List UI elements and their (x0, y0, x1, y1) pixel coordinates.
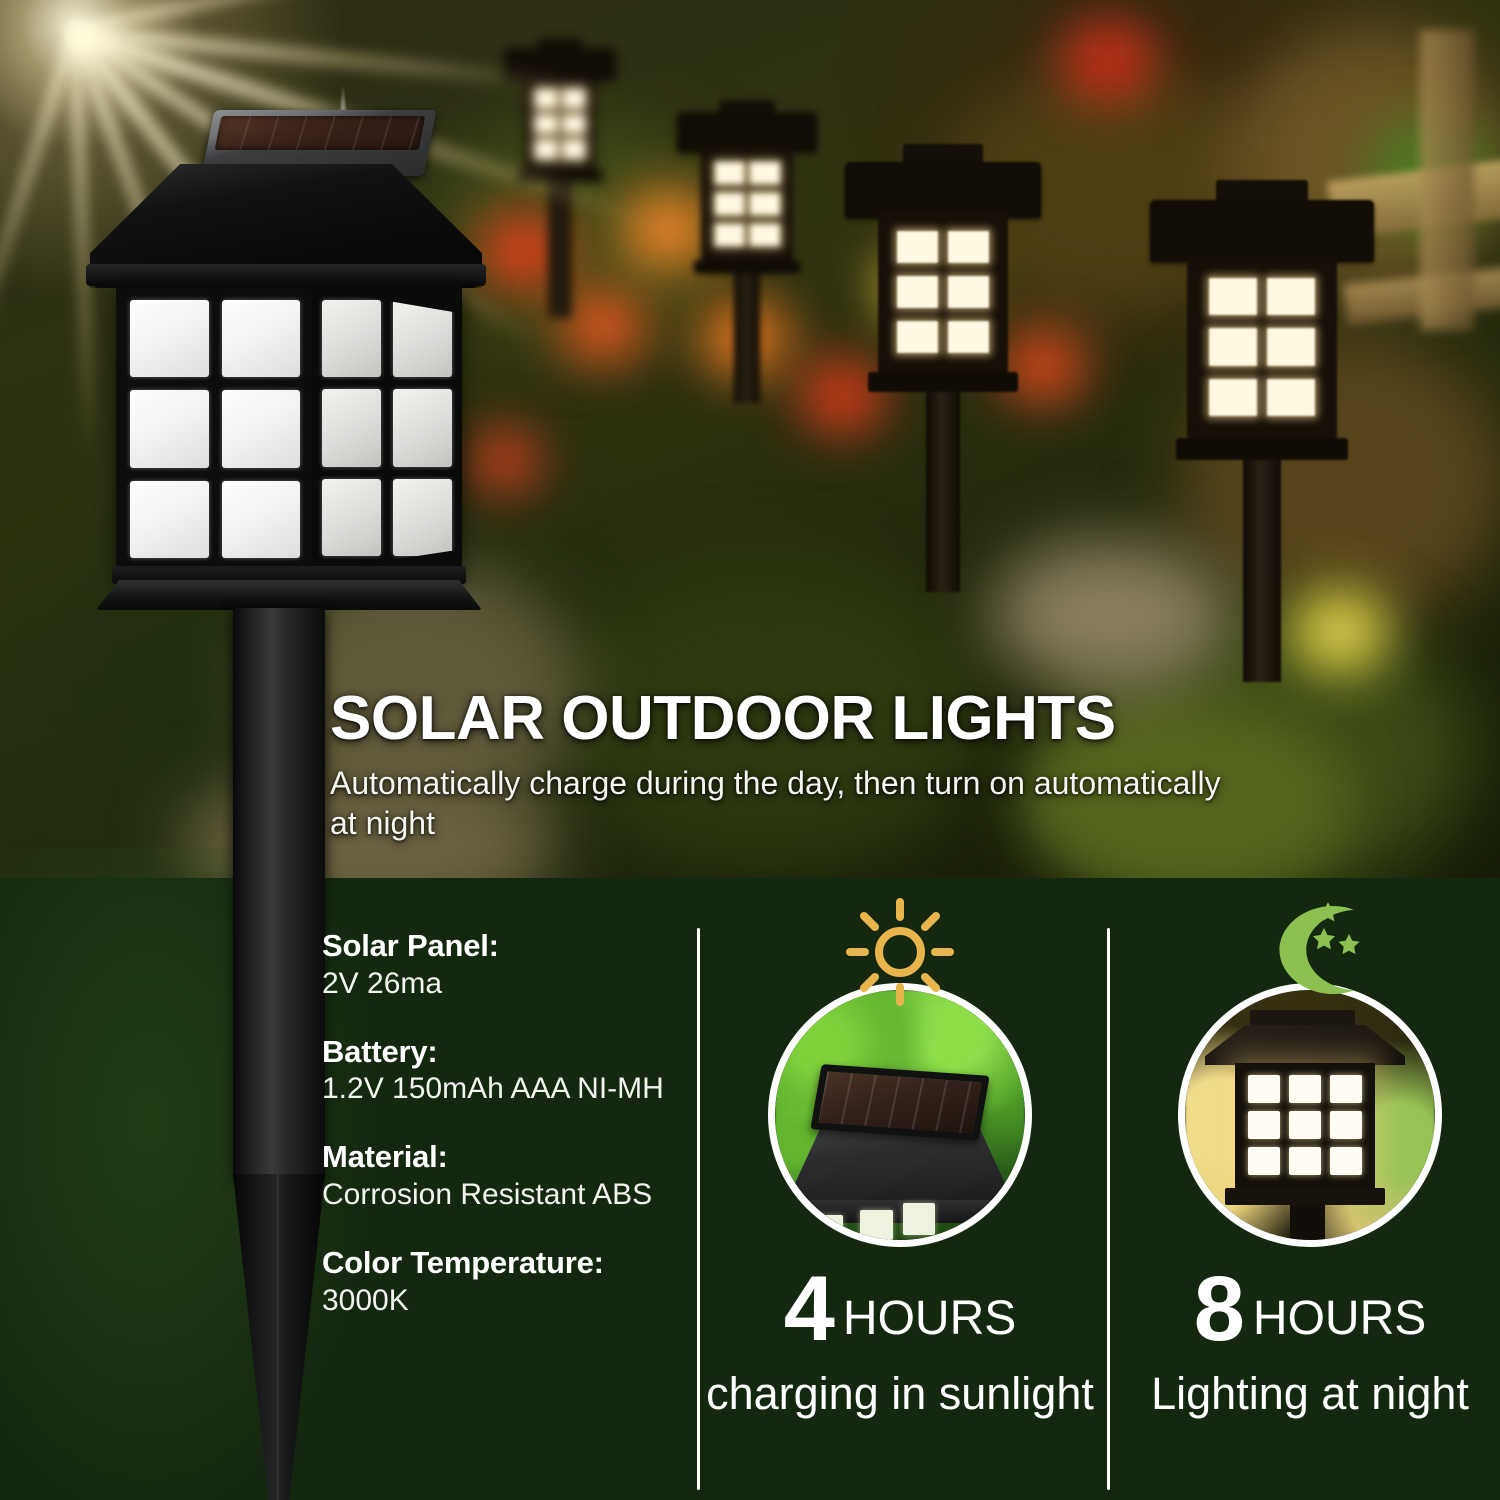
lantern-pane (322, 389, 381, 466)
spec-label: Material: (322, 1139, 682, 1175)
spec-item-solar-panel: Solar Panel: 2V 26ma (322, 928, 682, 1002)
lantern-pane (393, 479, 452, 556)
spec-item-color-temperature: Color Temperature: 3000K (322, 1245, 682, 1319)
lantern-pane (1248, 1111, 1280, 1139)
lantern-pole-closeup (1290, 1205, 1325, 1240)
lantern-front-face (116, 288, 312, 572)
lantern-pane (322, 479, 381, 556)
headline-block: SOLAR OUTDOOR LIGHTS Automatically charg… (330, 688, 1230, 843)
lantern-pane (130, 481, 209, 558)
lantern-pane (130, 390, 209, 467)
lantern-pane (1330, 1075, 1362, 1103)
lantern-body (116, 282, 462, 578)
lantern-pane (222, 300, 301, 377)
product-marketing-image: SOLAR OUTDOOR LIGHTS Automatically charg… (0, 0, 1500, 1500)
solar-panel-closeup-photo (768, 983, 1032, 1247)
feature-lighting: 8HOURS Lighting at night (1110, 878, 1500, 1500)
spec-item-material: Material: Corrosion Resistant ABS (322, 1139, 682, 1213)
lantern-pane (393, 389, 452, 466)
spec-item-battery: Battery: 1.2V 150mAh AAA NI-MH (322, 1034, 682, 1108)
page-subtitle: Automatically charge during the day, the… (330, 763, 1230, 843)
spec-list: Solar Panel: 2V 26ma Battery: 1.2V 150mA… (322, 928, 682, 1319)
lantern-pane (1289, 1111, 1321, 1139)
lantern-pane (1248, 1147, 1280, 1175)
sun-icon (844, 896, 956, 1013)
spec-value: 3000K (322, 1283, 682, 1319)
solar-cell (215, 116, 426, 150)
lantern-pane (1289, 1075, 1321, 1103)
lantern-pane (130, 300, 209, 377)
lantern-side-face (312, 288, 462, 572)
lantern-base-closeup (1225, 1188, 1385, 1206)
spec-label: Battery: (322, 1034, 682, 1070)
spec-label: Color Temperature: (322, 1245, 682, 1281)
spec-value: 1.2V 150mAh AAA NI-MH (322, 1071, 682, 1107)
moon-stars-icon (1252, 896, 1368, 1007)
lantern-body-closeup (1235, 1063, 1375, 1188)
lantern-pole (233, 608, 325, 878)
feature-hours-line: 8HOURS (1110, 1268, 1500, 1351)
specs-panel: Solar Panel: 2V 26ma Battery: 1.2V 150mA… (0, 878, 1500, 1500)
lantern-pane (222, 481, 301, 558)
lantern-pane (1330, 1111, 1362, 1139)
lantern-pane (393, 300, 452, 377)
feature-image-wrap (1170, 975, 1450, 1255)
spec-value: 2V 26ma (322, 966, 682, 1002)
lit-lantern-night-photo (1178, 983, 1442, 1247)
feature-hours-number: 8 (1194, 1258, 1243, 1360)
feature-description: charging in sunlight (700, 1370, 1100, 1418)
feature-hours-unit: HOURS (843, 1292, 1016, 1345)
feature-charging: 4HOURS charging in sunlight (700, 878, 1100, 1500)
page-title: SOLAR OUTDOOR LIGHTS (330, 688, 1230, 750)
lantern-pane (1289, 1147, 1321, 1175)
lantern-pane (222, 390, 301, 467)
spec-label: Solar Panel: (322, 928, 682, 964)
lantern-base-plate (96, 580, 482, 610)
feature-description: Lighting at night (1110, 1370, 1500, 1418)
garden-photo-scene: SOLAR OUTDOOR LIGHTS Automatically charg… (0, 0, 1500, 878)
lantern-pane (1248, 1075, 1280, 1103)
feature-hours-line: 4HOURS (700, 1268, 1100, 1351)
lantern-pane (815, 1215, 843, 1238)
feature-hours-number: 4 (784, 1258, 833, 1360)
solar-cell-closeup (810, 1064, 989, 1141)
feature-hours-unit: HOURS (1253, 1292, 1426, 1345)
lantern-pane (903, 1203, 936, 1236)
feature-image-wrap (760, 975, 1040, 1255)
lantern-pane (1330, 1147, 1362, 1175)
spec-value: Corrosion Resistant ABS (322, 1177, 682, 1213)
lantern-pane (322, 300, 381, 377)
lantern-pane (860, 1210, 893, 1240)
